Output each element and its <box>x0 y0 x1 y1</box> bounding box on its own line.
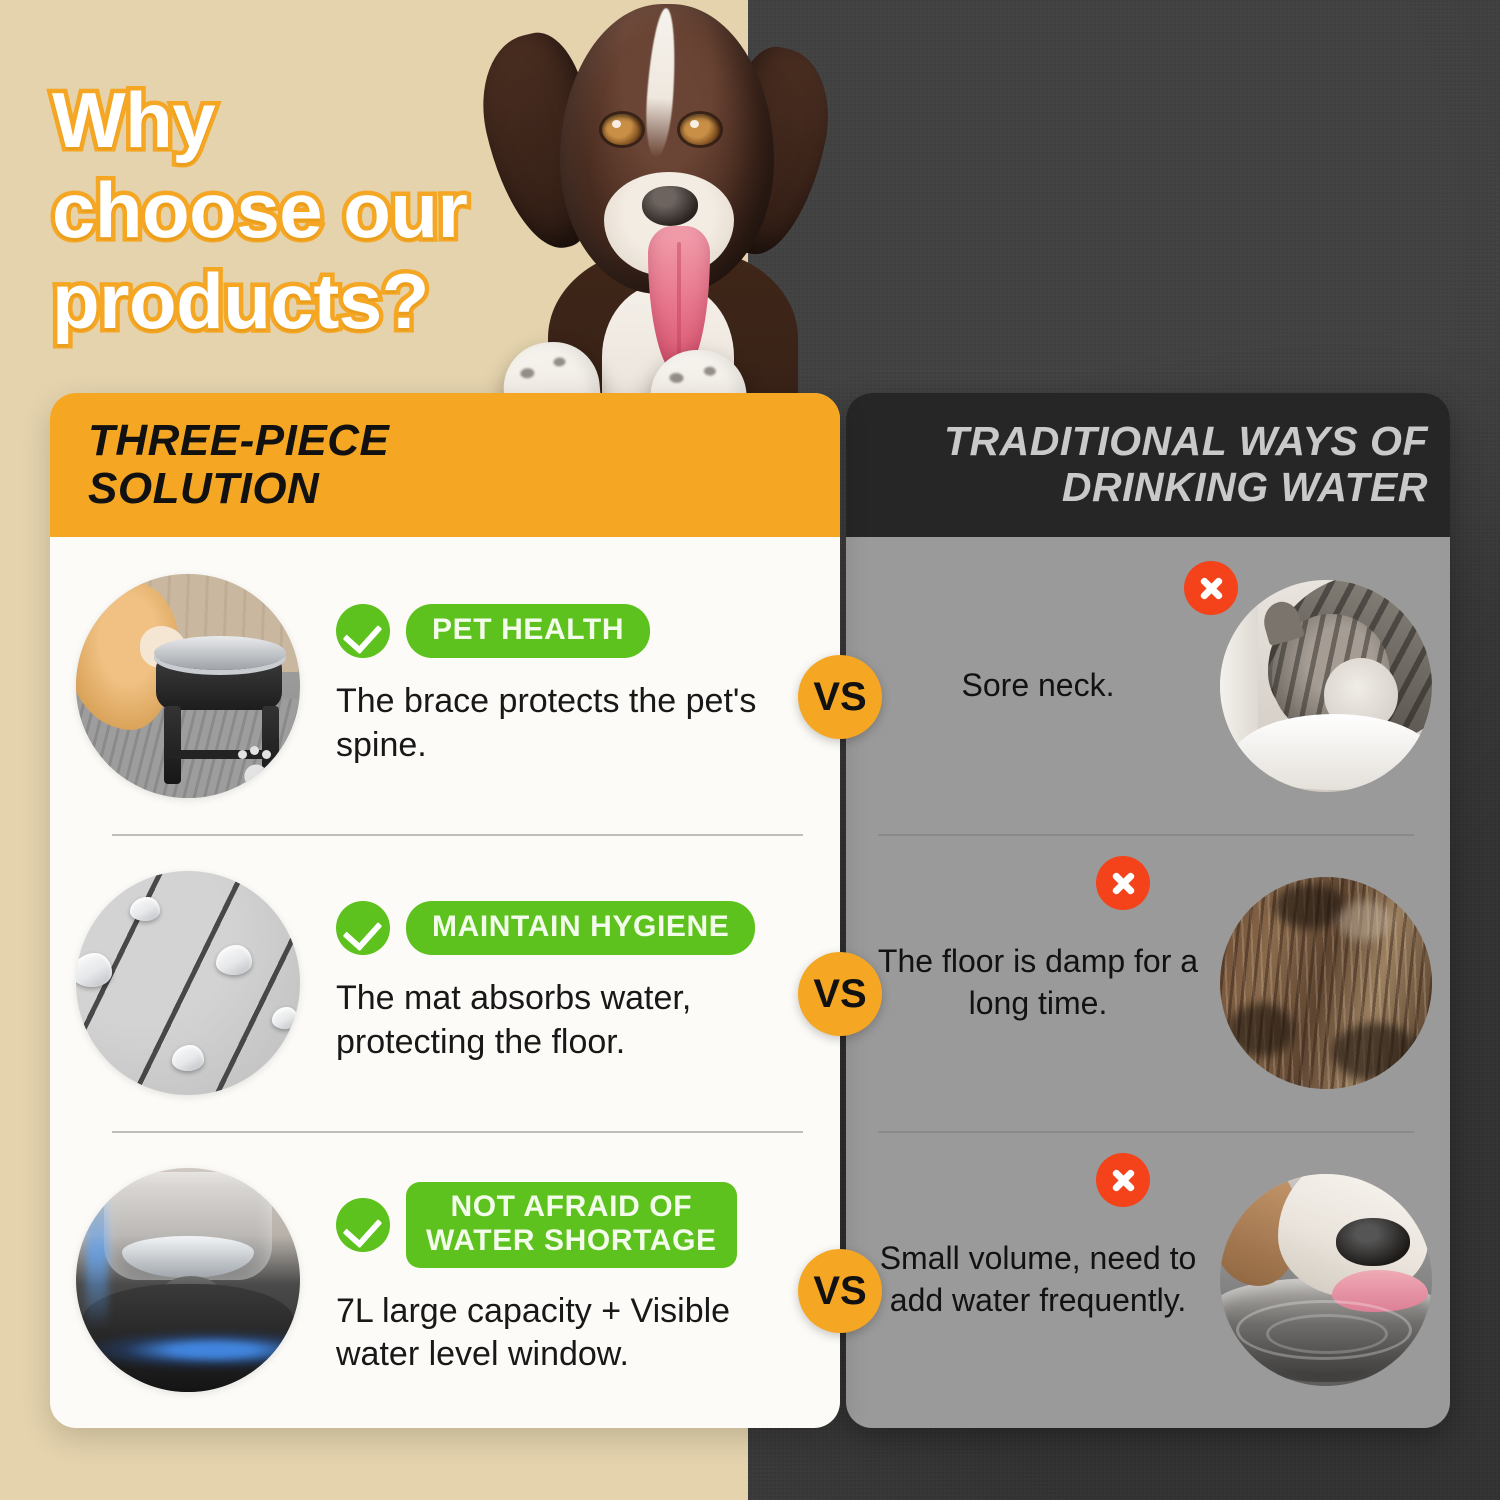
solution-badge: MAINTAIN HYGIENE <box>406 901 755 955</box>
headline-line-3: products? <box>52 263 522 339</box>
solution-badge-line-2: WATER SHORTAGE <box>426 1224 717 1257</box>
solution-rows: PET HEALTH The brace protects the pet's … <box>50 537 840 1428</box>
traditional-thumbnail <box>1220 877 1432 1089</box>
solution-description: 7L large capacity + Visible water level … <box>336 1290 820 1377</box>
vs-badge: VS <box>798 655 882 739</box>
solution-row: MAINTAIN HYGIENE The mat absorbs water, … <box>50 834 840 1131</box>
vs-badge: VS <box>798 1249 882 1333</box>
x-circle-icon <box>1096 1153 1150 1207</box>
traditional-ways-panel: TRADITIONAL WAYS OF DRINKING WATER Sore … <box>846 393 1450 1428</box>
vs-badge: VS <box>798 952 882 1036</box>
x-circle-icon <box>1184 561 1238 615</box>
solution-badge: NOT AFRAID OF WATER SHORTAGE <box>406 1182 737 1267</box>
traditional-description: Small volume, need to add water frequent… <box>870 1238 1220 1321</box>
solution-thumbnail <box>76 1168 300 1392</box>
traditional-rows: Sore neck. The floor is damp for a long … <box>846 537 1450 1428</box>
traditional-row: The floor is damp for a long time. <box>846 834 1450 1131</box>
solution-thumbnail <box>76 871 300 1095</box>
dog-eye-left <box>602 114 642 145</box>
check-circle-icon <box>336 1198 390 1252</box>
solution-description: The brace protects the pet's spine. <box>336 680 820 767</box>
right-header-line-2: DRINKING WATER <box>1062 464 1428 510</box>
dog-eye-right <box>680 114 720 145</box>
solution-thumbnail <box>76 574 300 798</box>
solution-text: NOT AFRAID OF WATER SHORTAGE 7L large ca… <box>300 1182 820 1376</box>
check-circle-icon <box>336 604 390 658</box>
solution-description: The mat absorbs water, protecting the fl… <box>336 977 820 1064</box>
traditional-description: Sore neck. <box>870 665 1220 707</box>
solution-badge-line-1: NOT AFRAID OF <box>450 1190 692 1223</box>
dog-nose <box>642 186 698 226</box>
left-header-title: THREE-PIECE SOLUTION <box>88 417 418 512</box>
traditional-description: The floor is damp for a long time. <box>870 941 1220 1024</box>
traditional-thumbnail <box>1220 580 1432 792</box>
infographic-canvas: Why choose our products? TRADITIONAL WAY… <box>0 0 1500 1500</box>
check-circle-icon <box>336 901 390 955</box>
solution-badge-row: PET HEALTH <box>336 604 820 658</box>
traditional-ways-header: TRADITIONAL WAYS OF DRINKING WATER <box>846 393 1450 537</box>
x-circle-icon <box>1096 856 1150 910</box>
solution-badge-row: MAINTAIN HYGIENE <box>336 901 820 955</box>
traditional-row: Small volume, need to add water frequent… <box>846 1131 1450 1428</box>
solution-row: PET HEALTH The brace protects the pet's … <box>50 537 840 834</box>
solution-text: MAINTAIN HYGIENE The mat absorbs water, … <box>300 901 820 1064</box>
three-piece-solution-header: THREE-PIECE SOLUTION <box>50 393 840 537</box>
traditional-thumbnail <box>1220 1174 1432 1386</box>
page-title: Why choose our products? <box>52 82 522 353</box>
solution-text: PET HEALTH The brace protects the pet's … <box>300 604 820 767</box>
headline-line-2: choose our <box>52 172 522 248</box>
right-header-line-1: TRADITIONAL WAYS OF <box>944 418 1428 464</box>
three-piece-solution-panel: THREE-PIECE SOLUTION PET HEALTH The b <box>50 393 840 1428</box>
solution-row: NOT AFRAID OF WATER SHORTAGE 7L large ca… <box>50 1131 840 1428</box>
traditional-row: Sore neck. <box>846 537 1450 834</box>
solution-badge-row: NOT AFRAID OF WATER SHORTAGE <box>336 1182 820 1267</box>
solution-badge: PET HEALTH <box>406 604 650 658</box>
headline-line-1: Why <box>52 82 522 158</box>
